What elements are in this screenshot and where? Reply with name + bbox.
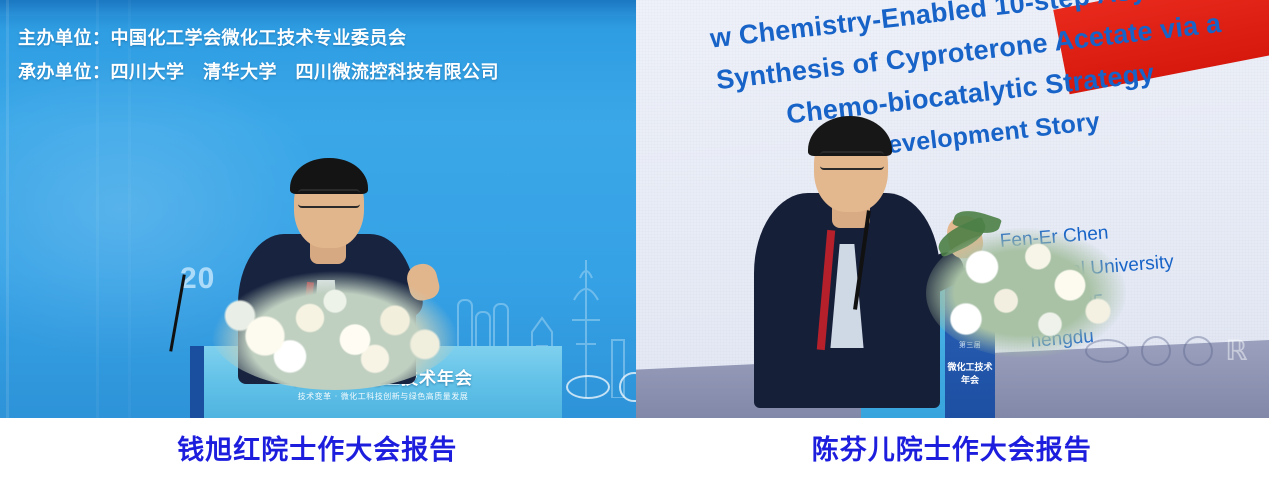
chemical-society-logo-icon — [566, 375, 610, 399]
speaker-glasses — [820, 151, 884, 170]
host-line-organizer: 主办单位：中国化工学会微化工技术专业委员会 — [18, 24, 598, 54]
podium-subtitle-left: 技术变革 · 微化工科技创新与绿色高质量发展 — [204, 391, 562, 402]
caption-right: 陈芬儿院士作大会报告 — [635, 418, 1269, 483]
photo-chen-fener: w Chemistry-Enabled 10-step Asymmetr Syn… — [636, 0, 1269, 418]
host-line-co-organizer: 承办单位：四川大学 清华大学 四川微流控科技有限公司 — [18, 58, 598, 88]
chemical-society-logo-icon — [1085, 339, 1129, 363]
backdrop-year-text: 20 — [180, 262, 215, 296]
speaker-glasses — [298, 189, 360, 208]
microphone-left — [169, 274, 185, 351]
backdrop-stripe — [6, 0, 9, 418]
caption-left: 钱旭红院士作大会报告 — [0, 418, 635, 483]
photo-caption-page: 主办单位：中国化工学会微化工技术专业委员会 承办单位：四川大学 清华大学 四川微… — [0, 0, 1269, 483]
r-mark-logo-icon: ℝ — [1225, 336, 1255, 366]
flower-arrangement-left — [210, 270, 460, 390]
university-seal-logo-icon — [619, 372, 636, 402]
sponsor-logo-strip-left: ℝ — [566, 364, 636, 410]
backdrop-host-text: 主办单位：中国化工学会微化工技术专业委员会 承办单位：四川大学 清华大学 四川微… — [18, 24, 598, 92]
caption-row: 钱旭红院士作大会报告 陈芬儿院士作大会报告 — [0, 418, 1269, 483]
speaker-hair — [808, 116, 892, 156]
university-seal-logo-icon — [1141, 336, 1171, 366]
flower-arrangement-right — [926, 228, 1126, 358]
photo-row: 主办单位：中国化工学会微化工技术专业委员会 承办单位：四川大学 清华大学 四川微… — [0, 0, 1269, 418]
photo-qian-xuhong: 主办单位：中国化工学会微化工技术专业委员会 承办单位：四川大学 清华大学 四川微… — [0, 0, 636, 418]
institute-seal-logo-icon — [1183, 336, 1213, 366]
